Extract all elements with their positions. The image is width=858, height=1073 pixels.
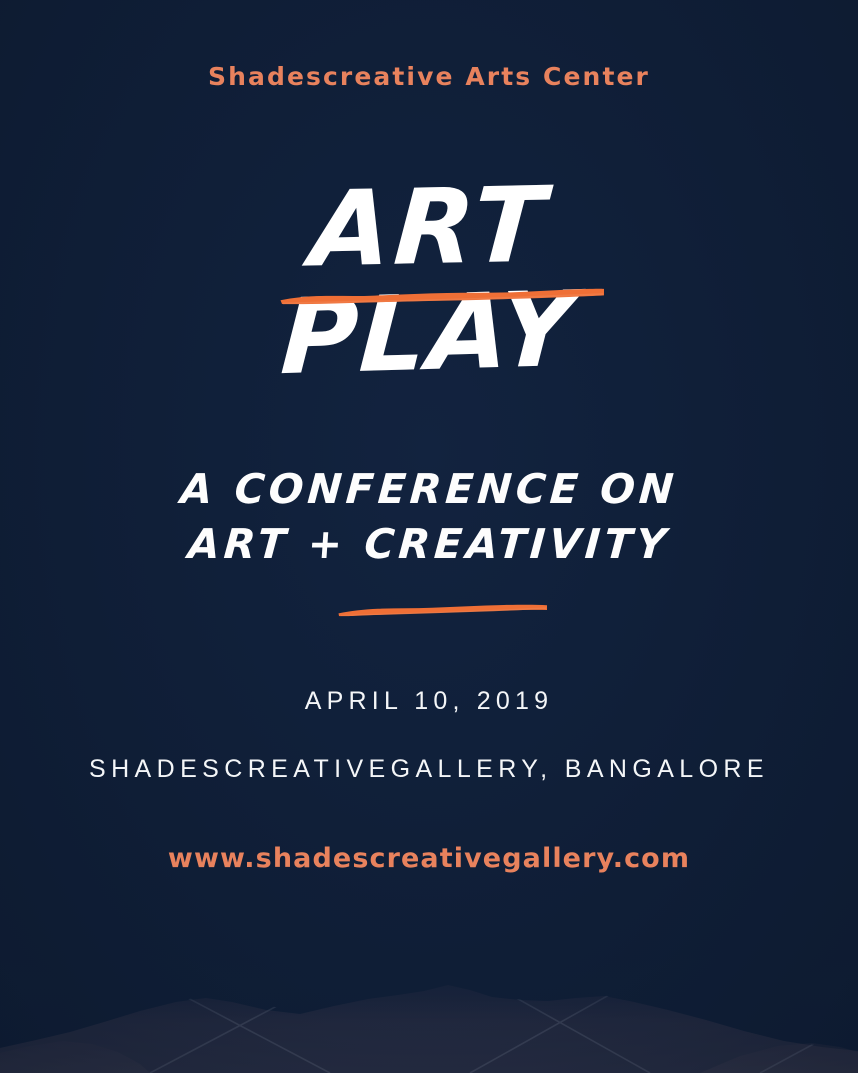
website-url[interactable]: www.shadescreativegallery.com: [0, 843, 858, 874]
event-date: APRIL 10, 2019: [0, 687, 858, 716]
subtitle-line-1: A CONFERENCE ON: [0, 462, 858, 517]
organization-name: Shadescreative Arts Center: [0, 62, 858, 91]
brush-stroke-divider-bottom: [336, 596, 551, 622]
poster-title: ART PLAY: [0, 178, 858, 384]
event-venue: SHADESCREATIVEGALLERY, BANGALORE: [0, 755, 858, 784]
event-poster: Shadescreative Arts Center ART PLAY A CO…: [0, 0, 858, 1073]
poster-subtitle: A CONFERENCE ON ART + CREATIVITY: [0, 462, 858, 572]
subtitle-line-2: ART + CREATIVITY: [0, 517, 858, 572]
title-word-play: PLAY: [0, 272, 858, 396]
title-word-art: ART: [0, 169, 858, 287]
